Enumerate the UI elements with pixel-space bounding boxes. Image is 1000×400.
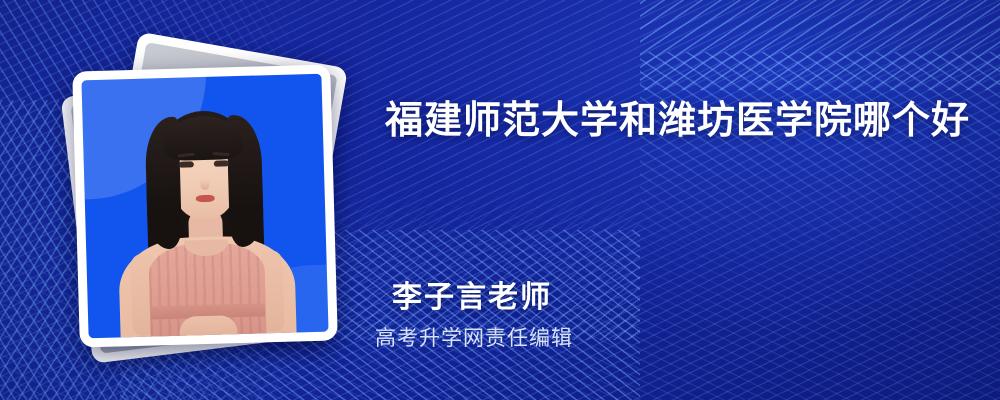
mouth [195, 194, 214, 202]
author-role-label: 高考升学网责任编辑 [375, 322, 573, 352]
banner-title: 福建师范大学和潍坊医学院哪个好 [385, 98, 985, 146]
author-name: 李子言老师 [392, 272, 552, 316]
eye-left [179, 161, 194, 167]
eye-right [214, 160, 229, 166]
hands [179, 315, 238, 339]
author-photo [81, 74, 328, 339]
author-photo-card [72, 64, 338, 347]
nose [200, 179, 209, 190]
portrait-figure [81, 74, 328, 339]
photo-card-stack [62, 46, 352, 356]
article-header-banner: 福建师范大学和潍坊医学院哪个好 李子言老师 高考升学网责任编辑 [0, 0, 1000, 400]
